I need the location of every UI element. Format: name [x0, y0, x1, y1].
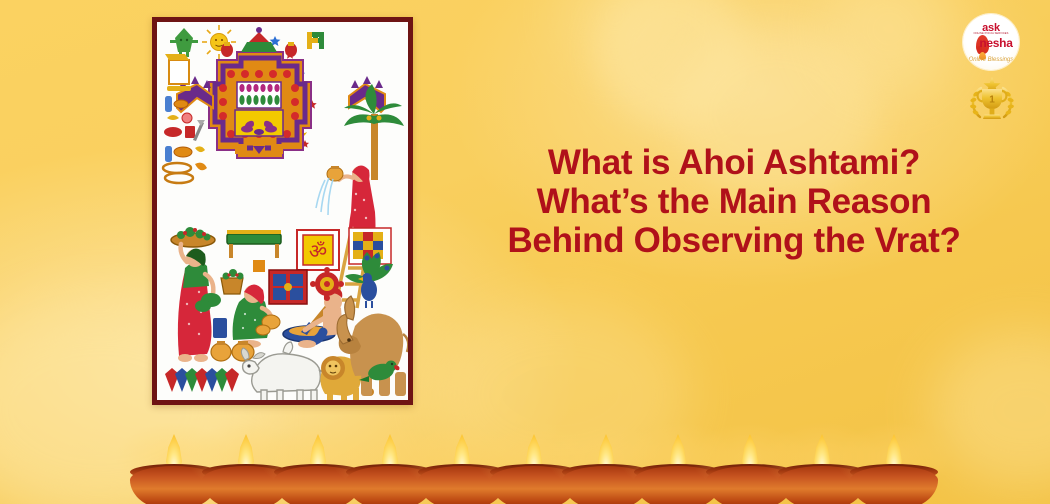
ahoi-mata-shrine [209, 27, 311, 158]
headline-line-2: What’s the Main Reason [430, 182, 1038, 221]
trophy-badge: 1 [966, 76, 1018, 122]
headline-line-3: Behind Observing the Vrat? [430, 221, 1038, 260]
trophy-rank-number: 1 [989, 95, 995, 106]
svg-text:ॐ: ॐ [309, 241, 327, 263]
trophy-icon: 1 [966, 76, 1018, 122]
headline-line-1: What is Ahoi Ashtami? [430, 143, 1038, 182]
logo-tagline: Online Blessings [963, 57, 1019, 63]
blue-block-motif [213, 318, 227, 338]
poster-canvas: ॐ [157, 22, 408, 400]
page-title: What is Ahoi Ashtami? What’s the Main Re… [430, 143, 1038, 260]
logo-brand-text: nesha [963, 37, 1019, 49]
om-square-motif: ॐ [297, 230, 339, 270]
four-square-motif [269, 270, 307, 304]
swastika-small-motif [253, 260, 265, 272]
ahoi-ashtami-banner: ask ONLINE POOJA SERVICES nesha Online B… [0, 0, 1050, 504]
ahoi-ashtami-poster[interactable]: ॐ [152, 17, 413, 405]
ask-ganesha-logo[interactable]: ask ONLINE POOJA SERVICES nesha Online B… [963, 14, 1019, 70]
swastika-motif [307, 32, 324, 49]
ahoi-ashtami-illustration: ॐ [157, 22, 408, 400]
